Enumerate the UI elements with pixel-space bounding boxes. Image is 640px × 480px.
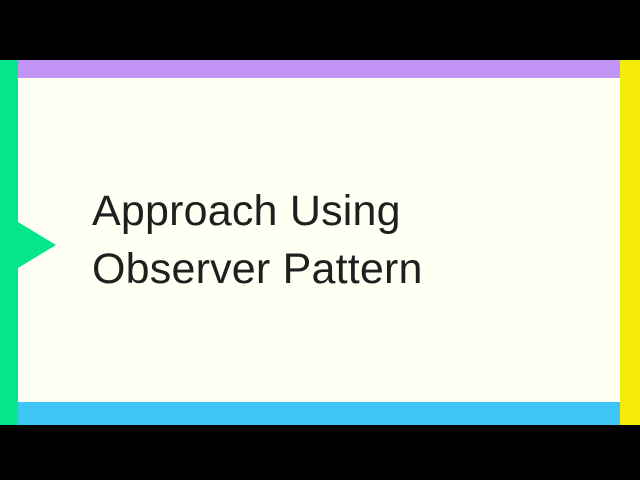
letterbox-top bbox=[0, 0, 640, 60]
top-accent-band bbox=[18, 60, 620, 78]
slide-title: Approach Using Observer Pattern bbox=[92, 182, 562, 298]
slide-title-line-1: Approach Using bbox=[92, 182, 562, 240]
slide-title-line-2: Observer Pattern bbox=[92, 240, 562, 298]
bottom-accent-band bbox=[18, 402, 620, 425]
left-accent-rail bbox=[0, 60, 18, 425]
right-pointing-triangle-icon bbox=[18, 222, 56, 268]
right-accent-rail bbox=[620, 60, 640, 425]
slide-frame: Approach Using Observer Pattern bbox=[0, 0, 640, 480]
slide-content-stage: Approach Using Observer Pattern bbox=[0, 60, 640, 425]
letterbox-bottom bbox=[0, 425, 640, 480]
